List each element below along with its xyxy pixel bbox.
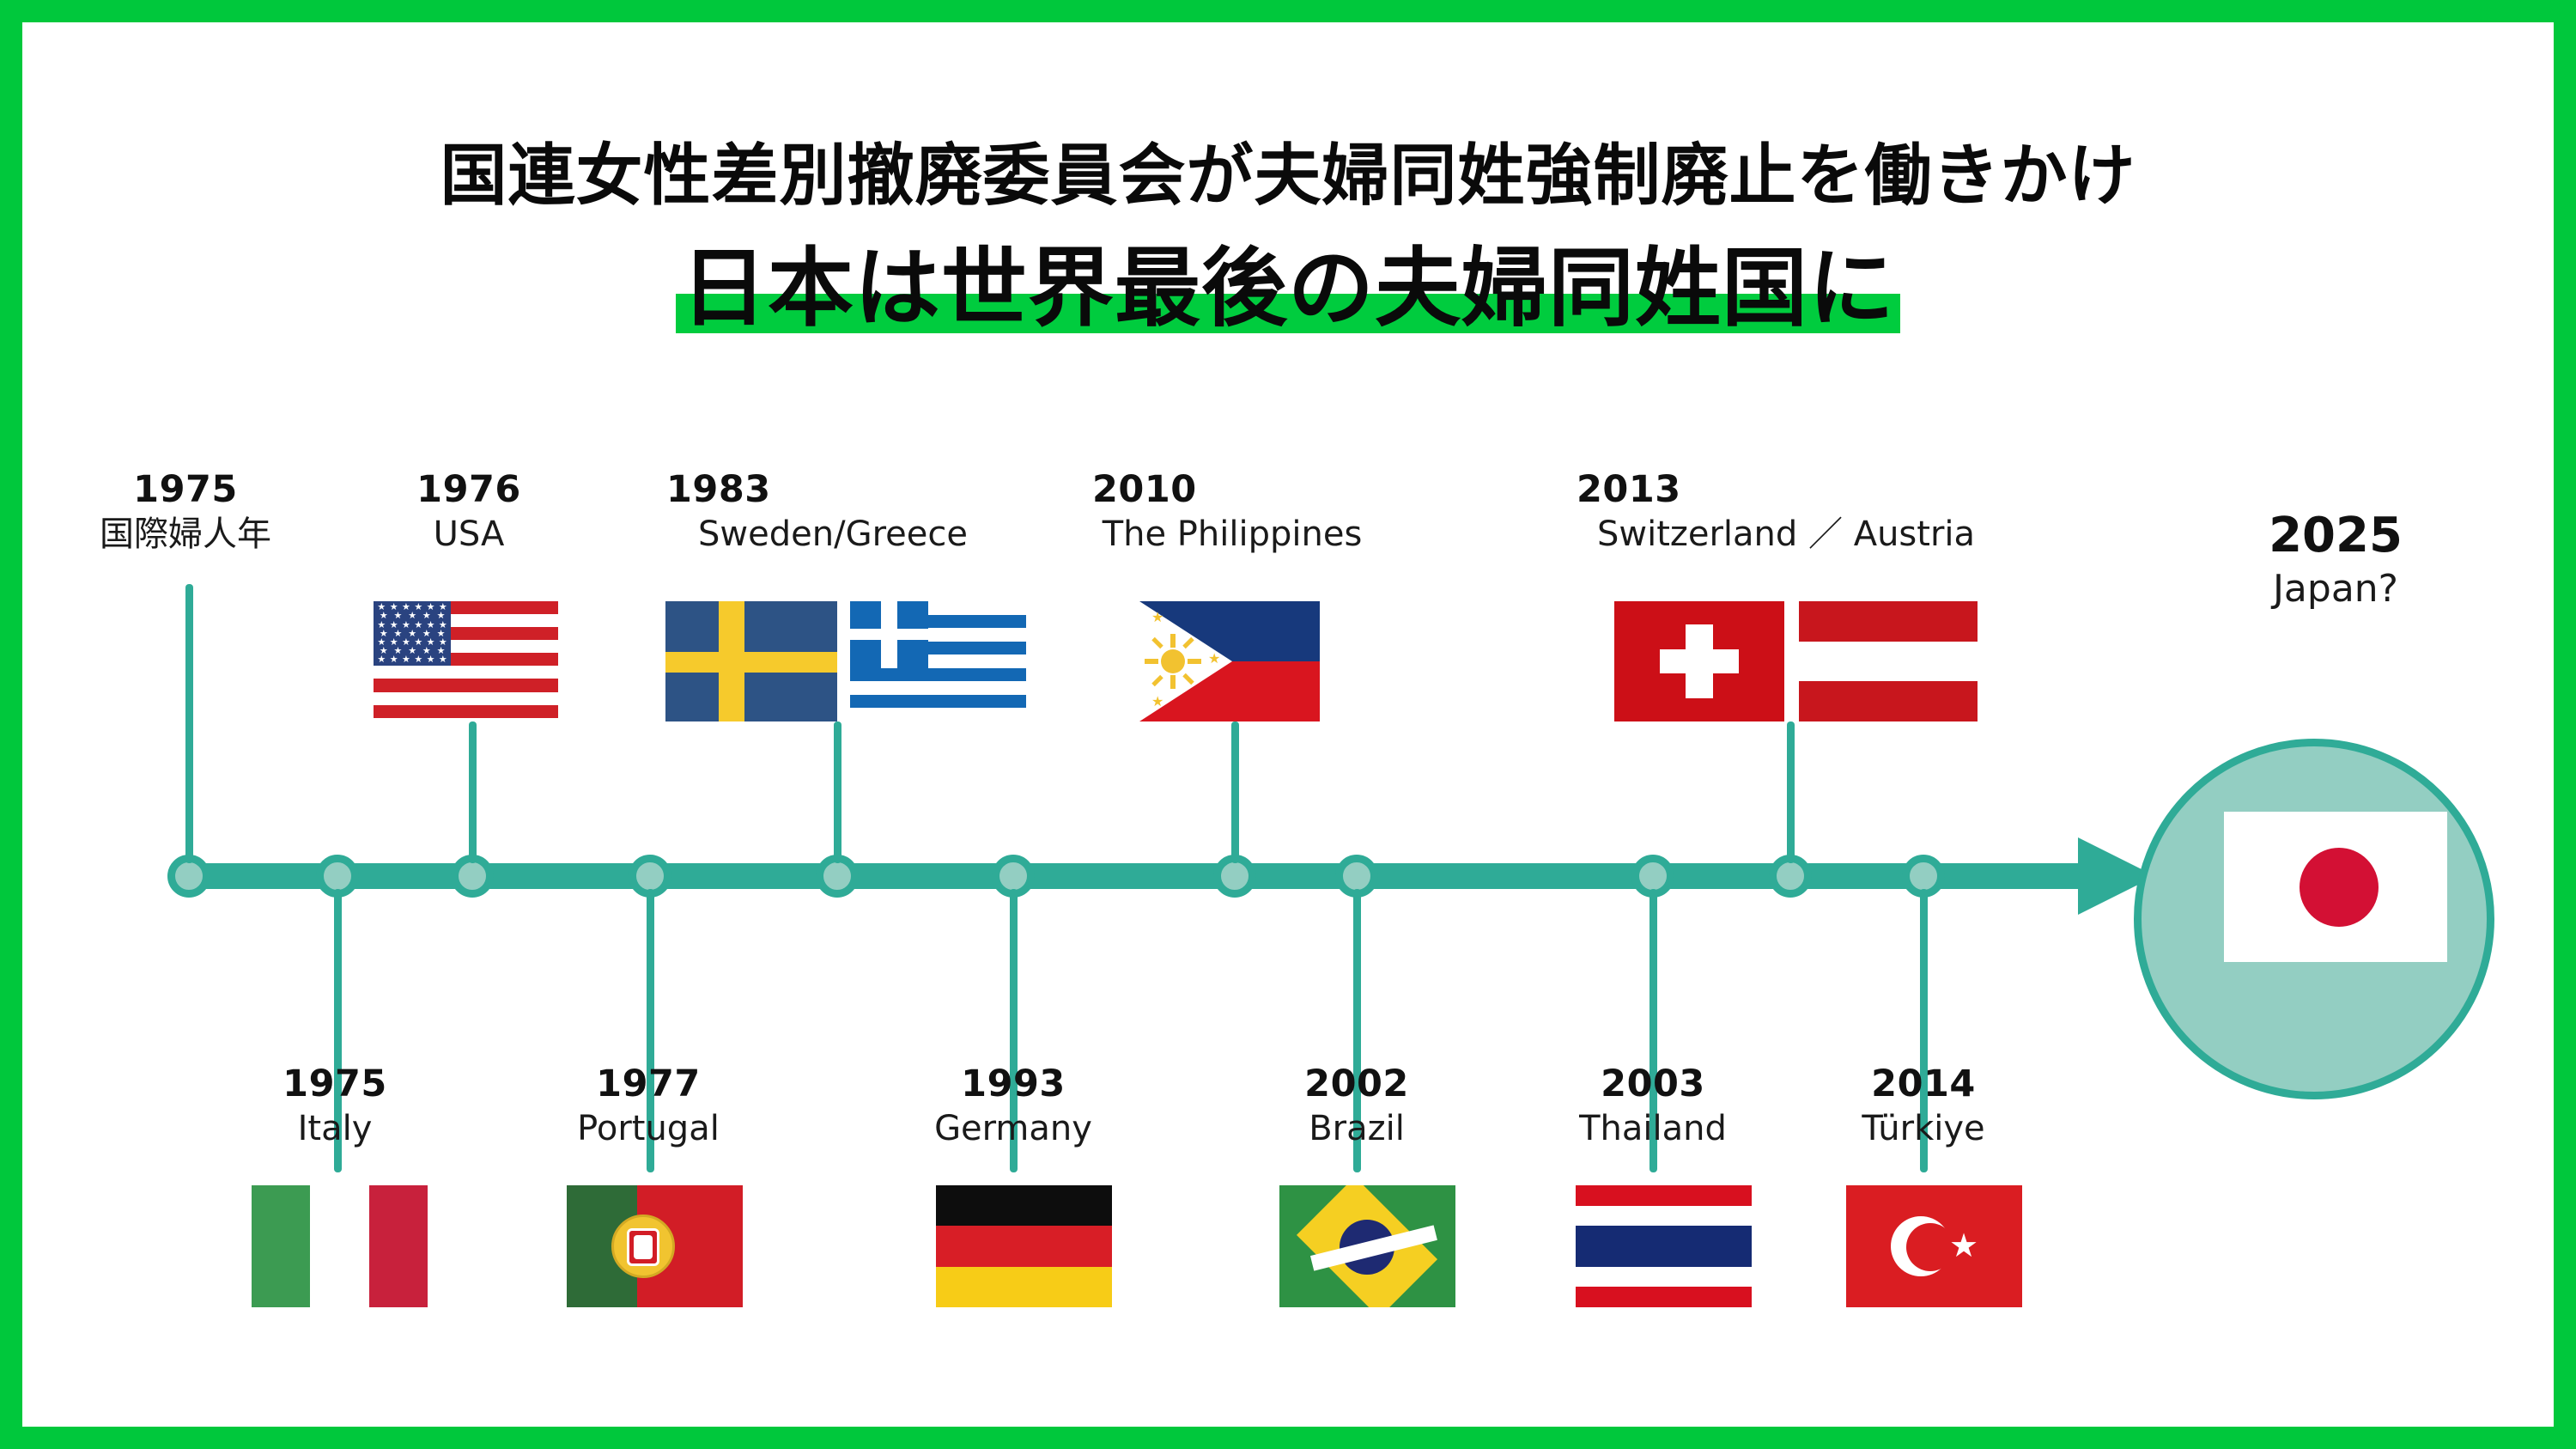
event-place: 国際婦人年 <box>39 512 331 557</box>
flag-greece-icon <box>850 601 1026 721</box>
event-label-2014-turkiye: 2014 Türkiye <box>1816 1062 2031 1151</box>
event-label-2002-brazil: 2002 Brazil <box>1249 1062 1464 1151</box>
subline-wrapper: 日本は世界最後の夫婦同姓国に <box>0 240 2576 337</box>
stem-up-1976 <box>469 721 477 863</box>
event-year: 2003 <box>1546 1062 1760 1106</box>
usa-canton: ★★★★★★ ★★★★★ ★★★★★★ ★★★★★ ★★★★★★ ★★★★★ ★… <box>374 601 451 666</box>
stem-up-1975 <box>185 584 193 863</box>
event-place: Portugal <box>541 1106 756 1151</box>
event-year: 2002 <box>1249 1062 1464 1106</box>
infographic-canvas: 国連女性差別撤廃委員会が夫婦同姓強制廃止を働きかけ 日本は世界最後の夫婦同姓国に… <box>0 0 2576 1449</box>
event-place: Thailand <box>1546 1106 1760 1151</box>
event-place: The Philippines <box>1013 512 1451 557</box>
event-year: 1977 <box>541 1062 756 1106</box>
event-place: USA <box>340 512 598 557</box>
event-year: 2013 <box>1520 468 2052 512</box>
flag-switzerland-icon <box>1614 601 1784 721</box>
stem-up-2013 <box>1787 721 1795 863</box>
event-year: 1993 <box>906 1062 1121 1106</box>
event-year: 2010 <box>1013 468 1451 512</box>
event-year: 2025 <box>2198 507 2473 564</box>
event-place: Germany <box>906 1106 1121 1151</box>
flag-brazil-icon <box>1279 1185 1455 1307</box>
flag-usa-icon: ★★★★★★ ★★★★★ ★★★★★★ ★★★★★ ★★★★★★ ★★★★★ ★… <box>374 601 558 721</box>
event-label-1993-germany: 1993 Germany <box>906 1062 1121 1151</box>
event-year: 1975 <box>39 468 331 512</box>
event-year: 2014 <box>1816 1062 2031 1106</box>
event-label-2003-thailand: 2003 Thailand <box>1546 1062 1760 1151</box>
flag-germany-icon <box>936 1185 1112 1307</box>
event-place: Brazil <box>1249 1106 1464 1151</box>
event-label-1975-italy: 1975 Italy <box>232 1062 438 1151</box>
frame-border-bottom <box>0 1427 2576 1449</box>
flag-philippines-icon: ★ ★ ★ <box>1139 601 1320 721</box>
event-label-1977-portugal: 1977 Portugal <box>541 1062 756 1151</box>
event-year: 1976 <box>340 468 598 512</box>
event-year: 1975 <box>232 1062 438 1106</box>
subline: 日本は世界最後の夫婦同姓国に <box>676 240 1900 337</box>
frame-border-top <box>0 0 2576 22</box>
flag-austria-icon <box>1799 601 1978 721</box>
flag-sweden-icon <box>665 601 837 721</box>
event-place: Switzerland ／ Austria <box>1520 512 2052 557</box>
flag-japan-icon <box>2224 812 2447 962</box>
flag-turkiye-icon: ★ <box>1846 1185 2022 1307</box>
headline: 国連女性差別撤廃委員会が夫婦同姓強制廃止を働きかけ <box>0 122 2576 218</box>
flag-italy-icon <box>252 1185 428 1307</box>
event-place: Türkiye <box>1816 1106 2031 1151</box>
event-label-1976-usa: 1976 USA <box>340 468 598 557</box>
subline-text: 日本は世界最後の夫婦同姓国に <box>681 238 1895 338</box>
event-label-1975-iwy: 1975 国際婦人年 <box>39 468 331 557</box>
event-place: Italy <box>232 1106 438 1151</box>
stem-up-1983 <box>834 721 841 863</box>
event-place: Japan? <box>2198 564 2473 613</box>
event-label-2010-philippines: 2010 The Philippines <box>1013 468 1451 557</box>
flag-thailand-icon <box>1576 1185 1752 1307</box>
event-label-2013-switzerland-austria: 2013 Switzerland ／ Austria <box>1520 468 2052 557</box>
stem-up-2010 <box>1231 721 1239 863</box>
flag-portugal-icon <box>567 1185 743 1307</box>
event-label-2025-japan: 2025 Japan? <box>2198 507 2473 613</box>
